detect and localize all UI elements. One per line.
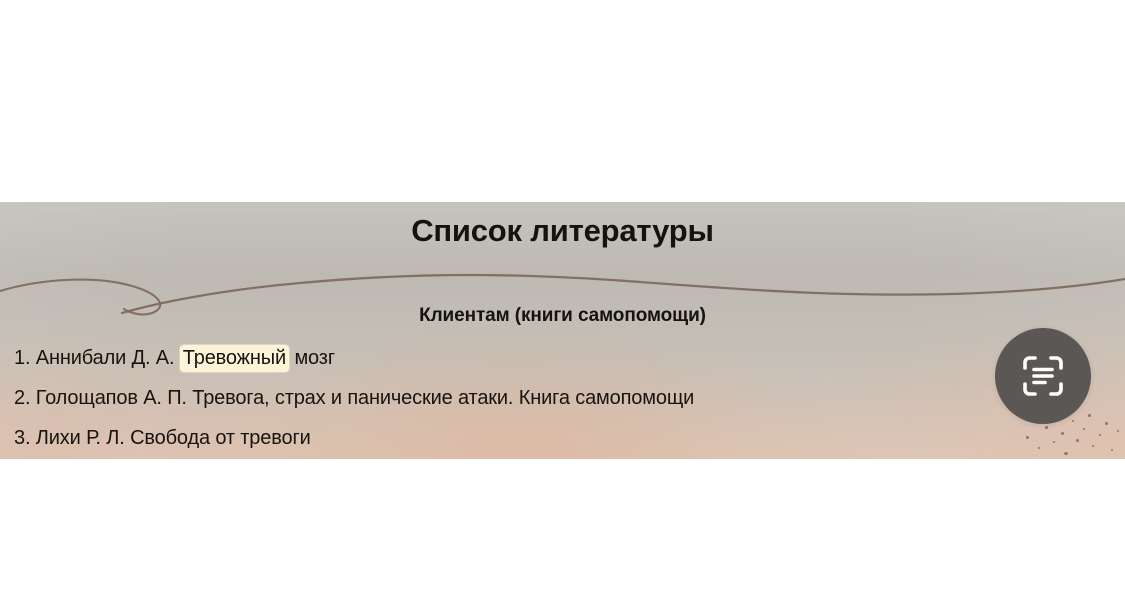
list-item: 1. Аннибали Д. А. Тревожный мозг bbox=[14, 338, 1014, 378]
list-item-text-before: Аннибали Д. А. bbox=[30, 347, 179, 369]
list-item-number: 1. bbox=[14, 347, 30, 369]
page-title: Список литературы bbox=[0, 212, 1125, 250]
list-item-number: 2. bbox=[14, 387, 30, 409]
scan-text-button[interactable] bbox=[995, 328, 1091, 424]
scan-text-icon bbox=[1019, 352, 1067, 400]
highlighted-text[interactable]: Тревожный bbox=[180, 345, 289, 372]
list-item: 2. Голощапов А. П. Тревога, страх и пани… bbox=[14, 378, 1014, 418]
list-item-text-before: Лихи Р. Л. Свобода от тревоги bbox=[30, 427, 310, 449]
reference-list: 1. Аннибали Д. А. Тревожный мозг 2. Голо… bbox=[14, 338, 1014, 458]
list-item-text-before: Голощапов А. П. Тревога, страх и паничес… bbox=[30, 387, 694, 409]
section-subtitle: Клиентам (книги самопомощи) bbox=[0, 303, 1125, 329]
list-item-text-after: мозг bbox=[289, 347, 335, 369]
slide-photo-region: Список литературы Клиентам (книги самопо… bbox=[0, 202, 1125, 459]
screenshot-root: Список литературы Клиентам (книги самопо… bbox=[0, 0, 1125, 607]
list-item-number: 3. bbox=[14, 427, 30, 449]
list-item: 3. Лихи Р. Л. Свобода от тревоги bbox=[14, 418, 1014, 458]
